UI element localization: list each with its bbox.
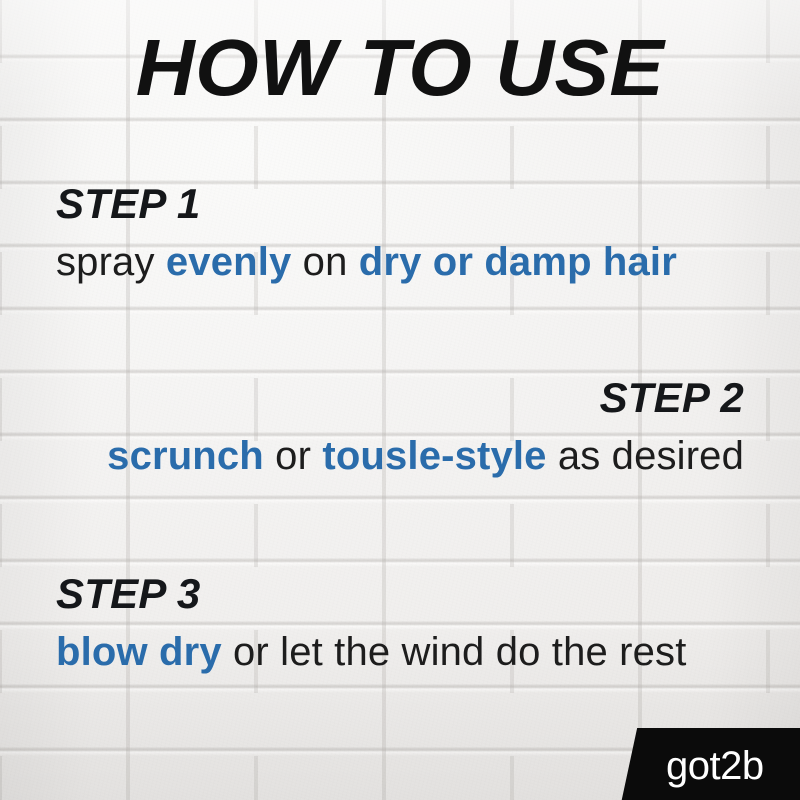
step-2-body: scrunch or tousle-style as desired <box>107 435 744 478</box>
plain-phrase: or <box>264 434 322 478</box>
step-1-body: spray evenly on dry or damp hair <box>56 241 677 284</box>
got2b-logo-text: got2b <box>666 746 764 786</box>
step-3-body: blow dry or let the wind do the rest <box>56 631 686 674</box>
step-3-heading: STEP 3 <box>56 573 686 615</box>
plain-phrase: as desired <box>547 434 744 478</box>
highlighted-phrase: scrunch <box>107 434 264 478</box>
highlighted-phrase: dry or damp hair <box>359 240 677 284</box>
step-3-block: STEP 3 blow dry or let the wind do the r… <box>56 573 686 674</box>
step-2-block: STEP 2 scrunch or tousle-style as desire… <box>107 377 744 478</box>
plain-phrase: or let the wind do the rest <box>222 630 687 674</box>
plain-phrase: spray <box>56 240 166 284</box>
highlighted-phrase: blow dry <box>56 630 222 674</box>
page-title: HOW TO USE <box>0 28 800 108</box>
highlighted-phrase: tousle-style <box>322 434 546 478</box>
step-1-heading: STEP 1 <box>56 183 677 225</box>
poster-canvas: HOW TO USE STEP 1 spray evenly on dry or… <box>0 0 800 800</box>
plain-phrase: on <box>291 240 358 284</box>
highlighted-phrase: evenly <box>166 240 292 284</box>
step-2-heading: STEP 2 <box>107 377 744 419</box>
step-1-block: STEP 1 spray evenly on dry or damp hair <box>56 183 677 284</box>
